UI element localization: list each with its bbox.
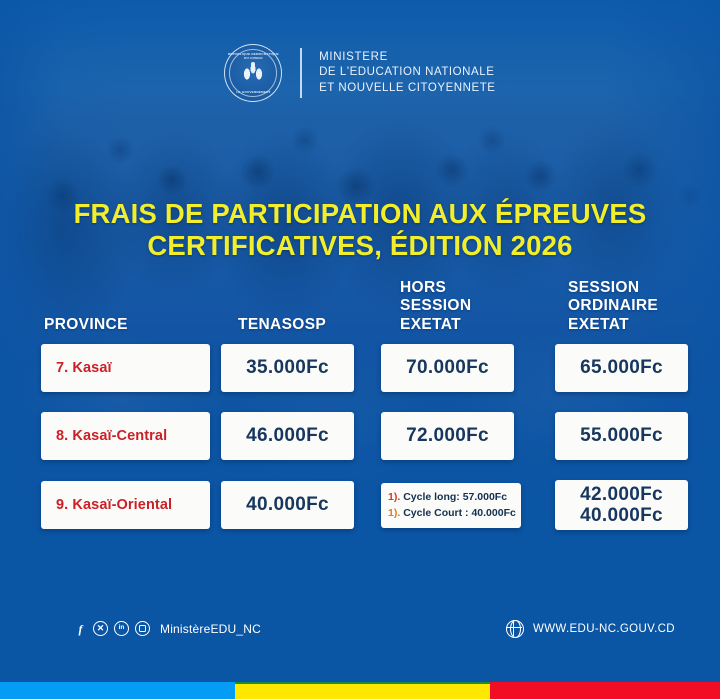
table-row-1-hors-session-value: 70.000Fc bbox=[406, 357, 489, 379]
table-row-1-session-ordinaire-cell: 65.000Fc bbox=[555, 344, 688, 392]
table-row-2-tenasosp-value: 46.000Fc bbox=[246, 425, 329, 447]
flag-stripe bbox=[0, 682, 720, 699]
table-row-1-tenasosp-value: 35.000Fc bbox=[246, 357, 329, 379]
table-row-3-session-ordinaire-value-2: 40.000Fc bbox=[580, 505, 663, 526]
table-row-2-session-ordinaire-cell: 55.000Fc bbox=[555, 412, 688, 460]
table-row-1-session-ordinaire-value: 65.000Fc bbox=[580, 357, 663, 379]
table-row-3-cycle-court-text: Cycle Court : 40.000Fc bbox=[403, 507, 516, 519]
instagram-icon[interactable] bbox=[135, 621, 150, 636]
stripe-red bbox=[490, 682, 720, 699]
column-header-province: PROVINCE bbox=[44, 316, 128, 334]
table-row-3-tenasosp-cell: 40.000Fc bbox=[221, 481, 354, 529]
social-handle: MinistèreEDU_NC bbox=[160, 622, 261, 636]
stripe-yellow bbox=[235, 682, 490, 699]
table-row-2-session-ordinaire-value: 55.000Fc bbox=[580, 425, 663, 447]
table-row-2-hors-session-cell: 72.000Fc bbox=[381, 412, 514, 460]
table-row-3-tenasosp-value: 40.000Fc bbox=[246, 494, 329, 516]
table-row-3-cycle-court-line: 1). Cycle Court : 40.000Fc bbox=[388, 506, 516, 522]
column-header-hors-session-exetat-line-1: HORS bbox=[400, 279, 471, 297]
table-row-1-tenasosp-cell: 35.000Fc bbox=[221, 344, 354, 392]
table-row-3-province-cell: 9. Kasaï-Oriental bbox=[41, 481, 210, 529]
fees-table: PROVINCE TENASOSP HORS SESSION EXETAT SE… bbox=[0, 0, 720, 699]
table-row-3-session-ordinaire-cell: 42.000Fc 40.000Fc bbox=[555, 480, 688, 530]
table-row-3-cycle-long-marker: 1). bbox=[388, 491, 400, 503]
table-row-3-cycle-court-marker: 1). bbox=[388, 507, 400, 519]
poster-root: REPUBLIQUE DEMOCRATIQUE DU CONGO LE GOUV… bbox=[0, 0, 720, 699]
stripe-sky-blue bbox=[0, 682, 235, 699]
column-header-session-ordinaire-exetat-line-3: EXETAT bbox=[568, 316, 658, 334]
facebook-icon[interactable]: f bbox=[74, 622, 87, 635]
table-row-3-province-label: 9. Kasaï-Oriental bbox=[56, 497, 172, 513]
table-row-1-province-cell: 7. Kasaï bbox=[41, 344, 210, 392]
social-links[interactable]: f ✕ in MinistèreEDU_NC bbox=[74, 621, 261, 636]
table-row-3-session-ordinaire-values: 42.000Fc 40.000Fc bbox=[580, 484, 663, 527]
table-row-1-hors-session-cell: 70.000Fc bbox=[381, 344, 514, 392]
table-row-2-province-label: 8. Kasaï-Central bbox=[56, 428, 167, 444]
column-header-session-ordinaire-exetat-line-1: SESSION bbox=[568, 279, 658, 297]
website-link[interactable]: WWW.EDU-NC.GOUV.CD bbox=[506, 620, 675, 638]
table-row-3-cycle-long-line: 1). Cycle long: 57.000Fc bbox=[388, 490, 507, 506]
linkedin-icon[interactable]: in bbox=[114, 621, 129, 636]
column-header-hors-session-exetat-line-3: EXETAT bbox=[400, 316, 471, 334]
column-header-session-ordinaire-exetat-line-2: ORDINAIRE bbox=[568, 297, 658, 315]
column-header-hors-session-exetat: HORS SESSION EXETAT bbox=[400, 279, 471, 334]
column-header-tenasosp: TENASOSP bbox=[238, 316, 326, 334]
table-row-3-cycle-long-text: Cycle long: 57.000Fc bbox=[403, 491, 507, 503]
table-row-2-hors-session-value: 72.000Fc bbox=[406, 425, 489, 447]
table-row-3-session-ordinaire-value-1: 42.000Fc bbox=[580, 484, 663, 505]
column-header-hors-session-exetat-line-2: SESSION bbox=[400, 297, 471, 315]
table-row-3-hors-session-cell: 1). Cycle long: 57.000Fc 1). Cycle Court… bbox=[381, 483, 521, 528]
x-twitter-icon[interactable]: ✕ bbox=[93, 621, 108, 636]
table-row-2-tenasosp-cell: 46.000Fc bbox=[221, 412, 354, 460]
table-row-2-province-cell: 8. Kasaï-Central bbox=[41, 412, 210, 460]
globe-icon bbox=[506, 620, 524, 638]
table-row-1-province-label: 7. Kasaï bbox=[56, 360, 112, 376]
website-url[interactable]: WWW.EDU-NC.GOUV.CD bbox=[533, 623, 675, 635]
column-header-session-ordinaire-exetat: SESSION ORDINAIRE EXETAT bbox=[568, 279, 658, 334]
